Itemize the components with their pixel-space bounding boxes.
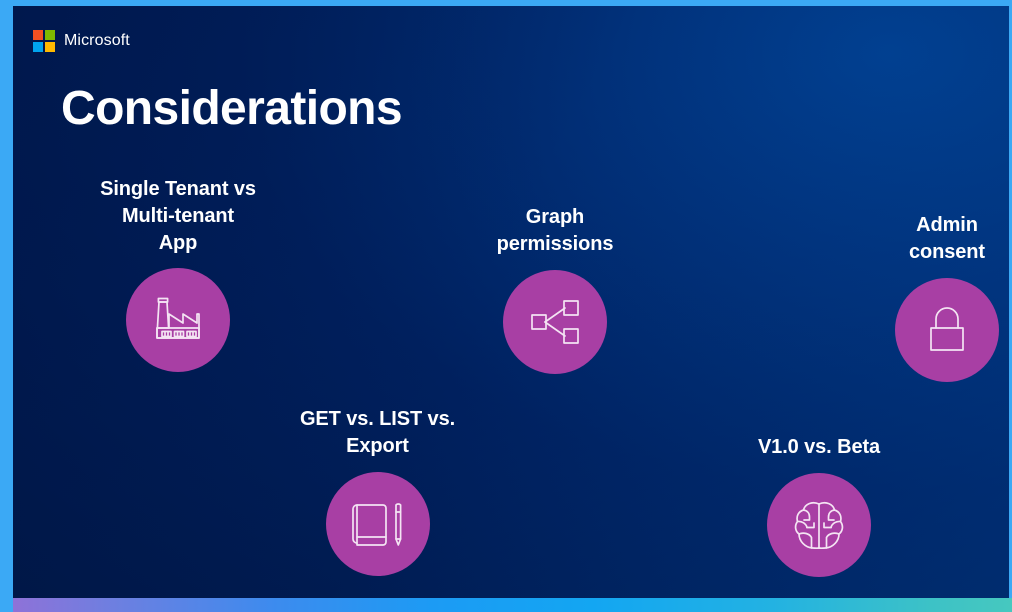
brand-name: Microsoft [64, 33, 130, 49]
consideration-item-getlist: GET vs. LIST vs. Export [285, 406, 470, 576]
notebook-pencil-icon [349, 496, 407, 552]
consideration-label-getlist: GET vs. LIST vs. Export [300, 406, 455, 460]
consideration-item-admin: Admin consent [863, 212, 1009, 382]
page-title: Considerations [61, 84, 402, 134]
consideration-icon-badge-getlist [326, 472, 430, 576]
consideration-icon-badge-graph [503, 270, 607, 374]
consideration-item-tenancy: Single Tenant vs Multi-tenant App [88, 176, 268, 372]
logo-green-tile [45, 30, 55, 40]
bottom-accent-bar [13, 598, 1012, 612]
brain-icon [790, 496, 848, 554]
presentation-slide: Microsoft Considerations Single Tenant v… [0, 0, 1012, 612]
slide-canvas: Microsoft Considerations Single Tenant v… [13, 6, 1009, 598]
consideration-icon-badge-admin [895, 278, 999, 382]
microsoft-brand: Microsoft [33, 30, 130, 52]
share-nodes-icon [526, 295, 584, 349]
consideration-label-admin: Admin consent [909, 212, 985, 266]
consideration-item-graph: Graph permissions [465, 204, 645, 374]
factory-icon [147, 292, 209, 348]
consideration-icon-badge-tenancy [126, 268, 230, 372]
consideration-icon-badge-version [767, 473, 871, 577]
consideration-item-version: V1.0 vs. Beta [731, 434, 907, 577]
logo-red-tile [33, 30, 43, 40]
microsoft-logo-icon [33, 30, 55, 52]
logo-blue-tile [33, 42, 43, 52]
logo-yellow-tile [45, 42, 55, 52]
lock-icon [923, 302, 971, 358]
consideration-label-tenancy: Single Tenant vs Multi-tenant App [100, 176, 256, 256]
consideration-label-version: V1.0 vs. Beta [758, 434, 880, 461]
consideration-label-graph: Graph permissions [497, 204, 614, 258]
